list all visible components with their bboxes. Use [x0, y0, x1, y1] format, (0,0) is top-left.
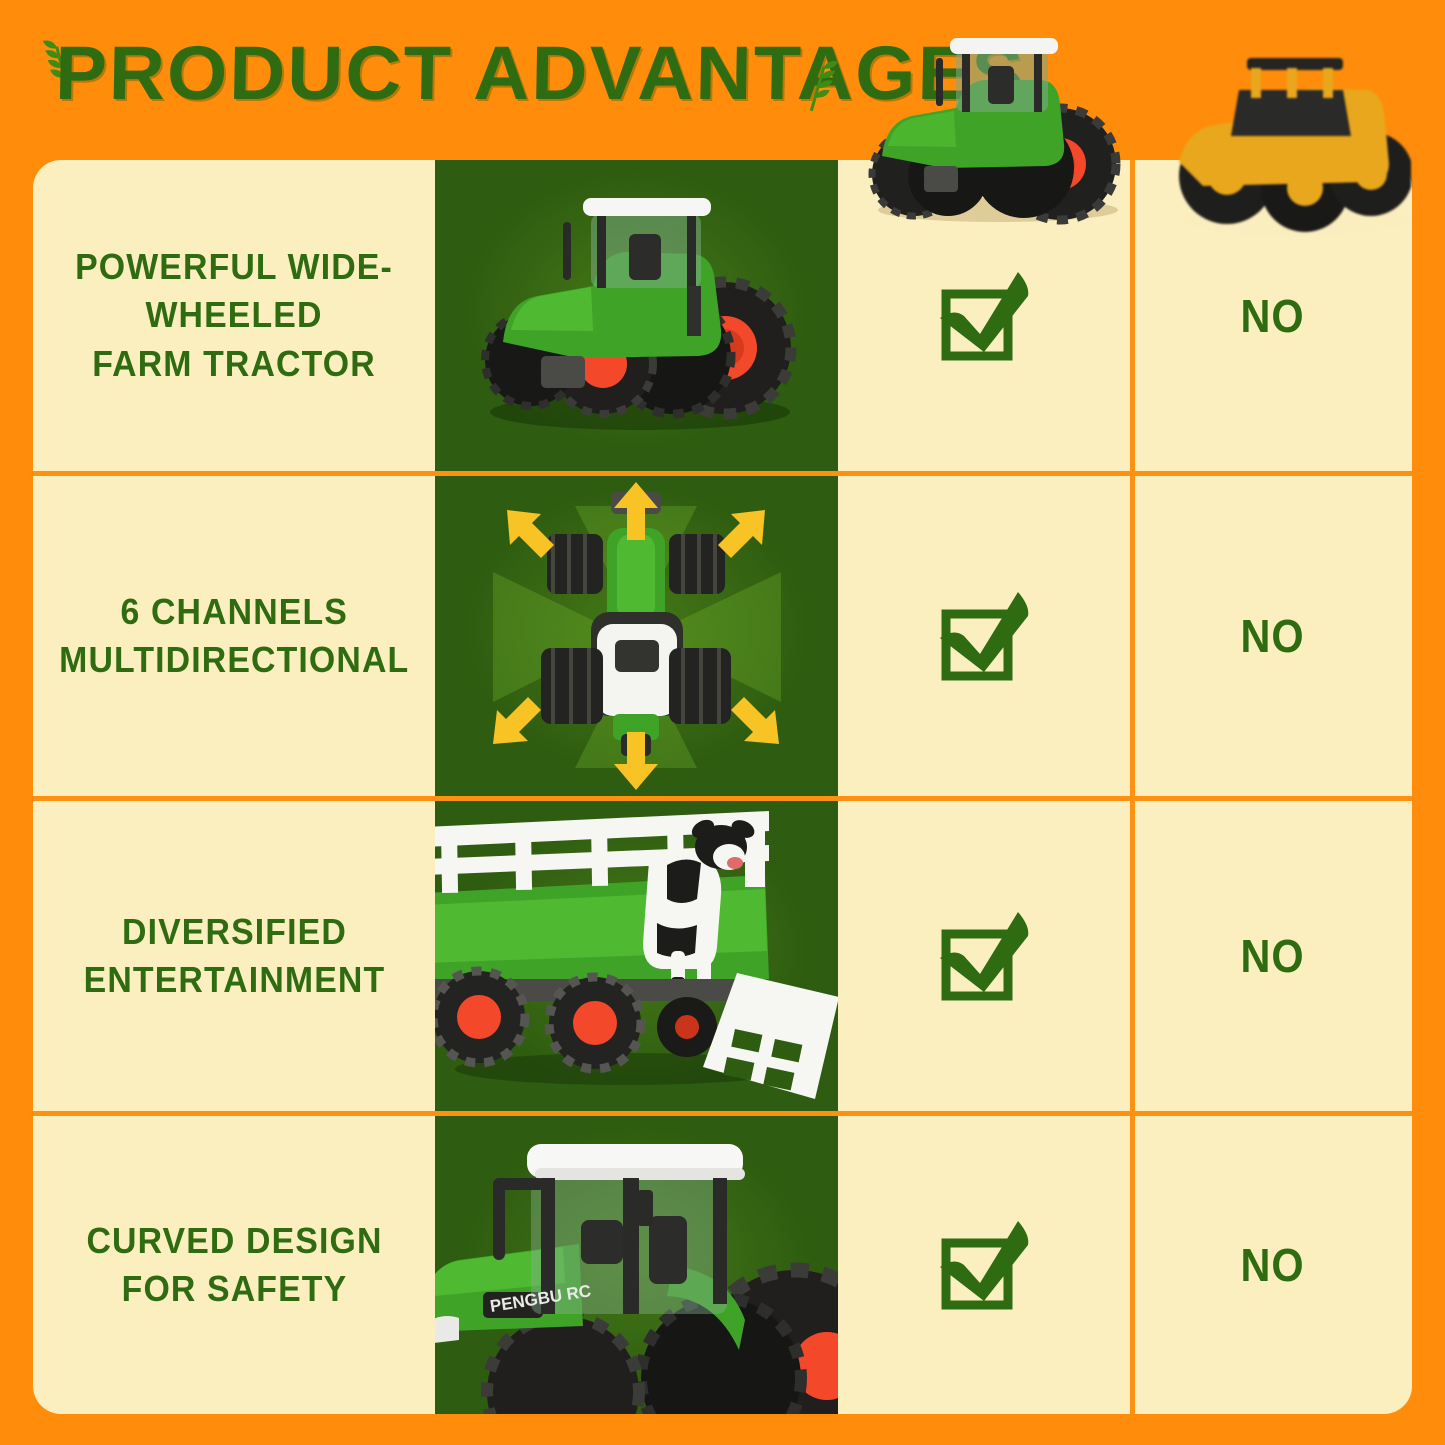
check-icon	[938, 588, 1034, 684]
livestock-trailer-image	[435, 801, 838, 1111]
row-divider	[33, 796, 1412, 801]
table-row: CURVED DESIGN FOR SAFETY	[33, 1116, 1412, 1414]
theirs-cell: NO	[1133, 476, 1412, 796]
theirs-value: NO	[1241, 289, 1305, 343]
feature-label-line1: POWERFUL WIDE-WHEELED	[75, 246, 393, 335]
feature-label-cell: CURVED DESIGN FOR SAFETY	[33, 1116, 435, 1414]
table-row: 6 CHANNELS MULTIDIRECTIONAL	[33, 476, 1412, 796]
row-divider	[33, 1111, 1412, 1116]
feature-label-cell: 6 CHANNELS MULTIDIRECTIONAL	[33, 476, 435, 796]
check-icon	[938, 268, 1034, 364]
product-image-cell	[435, 476, 838, 796]
feature-label-line2: MULTIDIRECTIONAL	[59, 639, 409, 680]
check-icon	[938, 908, 1034, 1004]
theirs-cell: NO	[1133, 1116, 1412, 1414]
feature-label-line1: CURVED DESIGN	[86, 1220, 382, 1261]
feature-label-line1: 6 CHANNELS	[120, 591, 348, 632]
ours-cell	[838, 476, 1133, 796]
row-divider	[33, 471, 1412, 476]
advantages-table: POWERFUL WIDE-WHEELED FARM TRACTOR	[33, 160, 1412, 1414]
column-divider	[1130, 160, 1135, 1414]
curved-cab-image: PENGBU RC	[435, 1116, 838, 1414]
product-image-cell	[435, 160, 838, 471]
product-image-cell: PENGBU RC	[435, 1116, 838, 1414]
table-row: DIVERSIFIED ENTERTAINMENT	[33, 801, 1412, 1111]
check-icon	[938, 1217, 1034, 1313]
feature-label-line2: FARM TRACTOR	[92, 343, 376, 384]
theirs-value: NO	[1241, 1238, 1305, 1292]
feature-label-line2: FOR SAFETY	[121, 1268, 347, 1309]
theirs-value: NO	[1241, 609, 1305, 663]
hero-rival-tractor	[1155, 38, 1411, 238]
theirs-cell: NO	[1133, 801, 1412, 1111]
hero-product-tractor	[838, 14, 1138, 226]
product-image-cell	[435, 801, 838, 1111]
ours-cell	[838, 801, 1133, 1111]
ours-cell	[838, 1116, 1133, 1414]
feature-label-line1: DIVERSIFIED	[122, 911, 347, 952]
tractor-wide-wheel-image	[435, 160, 838, 471]
feature-label-cell: POWERFUL WIDE-WHEELED FARM TRACTOR	[33, 160, 435, 471]
theirs-value: NO	[1241, 929, 1305, 983]
feature-label-line2: ENTERTAINMENT	[83, 959, 385, 1000]
feature-label-cell: DIVERSIFIED ENTERTAINMENT	[33, 801, 435, 1111]
multidirectional-arrows-image	[435, 476, 838, 796]
